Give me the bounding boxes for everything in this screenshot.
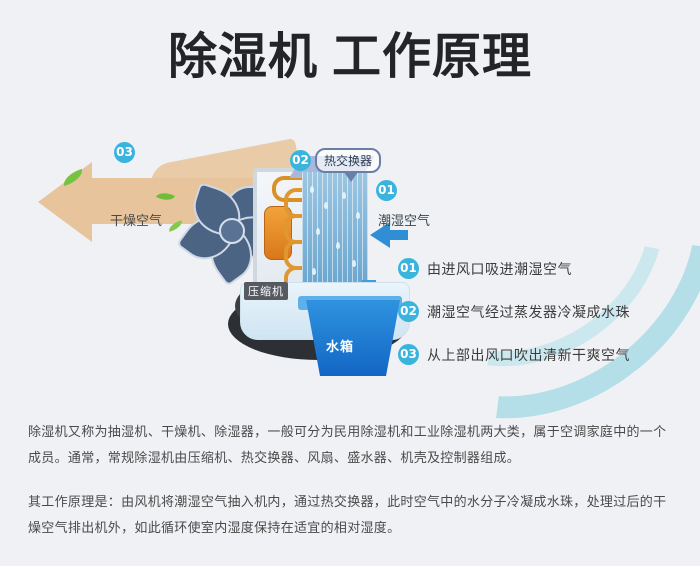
- water-droplet: [310, 186, 314, 193]
- compressor-label: 压缩机: [244, 282, 288, 300]
- water-droplet: [356, 212, 360, 219]
- water-droplet: [336, 242, 340, 249]
- badge-01: 01: [376, 180, 397, 201]
- callout-pointer-icon: [344, 172, 358, 182]
- badge-03: 03: [114, 142, 135, 163]
- water-droplet: [342, 192, 346, 199]
- paragraph-principle: 其工作原理是：由风机将潮湿空气抽入机内，通过热交换器，此时空气中的水分子冷凝成水…: [28, 490, 676, 542]
- process-step-list: 01 由进风口吸进潮湿空气 02 潮湿空气经过蒸发器冷凝成水珠 03 从上部出风…: [398, 258, 688, 387]
- description-body: 除湿机又称为抽湿机、干燥机、除湿器，一般可分为民用除湿机和工业除湿机两大类，属于…: [28, 420, 676, 542]
- water-droplet: [316, 228, 320, 235]
- title-part-topic: 工作原理: [332, 28, 532, 85]
- list-item: 01 由进风口吸进潮湿空气: [398, 258, 688, 279]
- badge-02: 02: [398, 301, 419, 322]
- callout-heat-exchanger: 02热交换器: [290, 148, 381, 173]
- fan-hub: [219, 218, 245, 244]
- water-droplet: [352, 260, 356, 267]
- humid-air-label: 潮湿空气: [378, 210, 430, 229]
- paragraph-definition: 除湿机又称为抽湿机、干燥机、除湿器，一般可分为民用除湿机和工业除湿机两大类，属于…: [28, 420, 676, 472]
- heat-exchanger-label: 热交换器: [315, 148, 381, 173]
- water-droplet: [324, 202, 328, 209]
- water-droplet: [312, 268, 316, 275]
- callout-dry-air: 03 干燥空气: [114, 142, 135, 163]
- list-item: 03 从上部出风口吹出清新干爽空气: [398, 344, 688, 365]
- callout-humid-air: 01 潮湿空气: [376, 180, 397, 201]
- page-title: 除湿机工作原理: [0, 30, 700, 84]
- badge-03: 03: [398, 344, 419, 365]
- title-part-product: 除湿机: [168, 28, 318, 85]
- air-intake-arrow-tail: [388, 230, 408, 240]
- step-text: 潮湿空气经过蒸发器冷凝成水珠: [427, 302, 630, 322]
- list-item: 02 潮湿空气经过蒸发器冷凝成水珠: [398, 301, 688, 322]
- step-text: 从上部出风口吹出清新干爽空气: [427, 345, 630, 365]
- badge-02: 02: [290, 150, 311, 171]
- step-text: 由进风口吸进潮湿空气: [427, 259, 572, 279]
- dry-air-arrow-head: [38, 162, 92, 242]
- badge-01: 01: [398, 258, 419, 279]
- dry-air-label: 干燥空气: [110, 210, 162, 229]
- water-tank-label: 水箱: [326, 336, 354, 355]
